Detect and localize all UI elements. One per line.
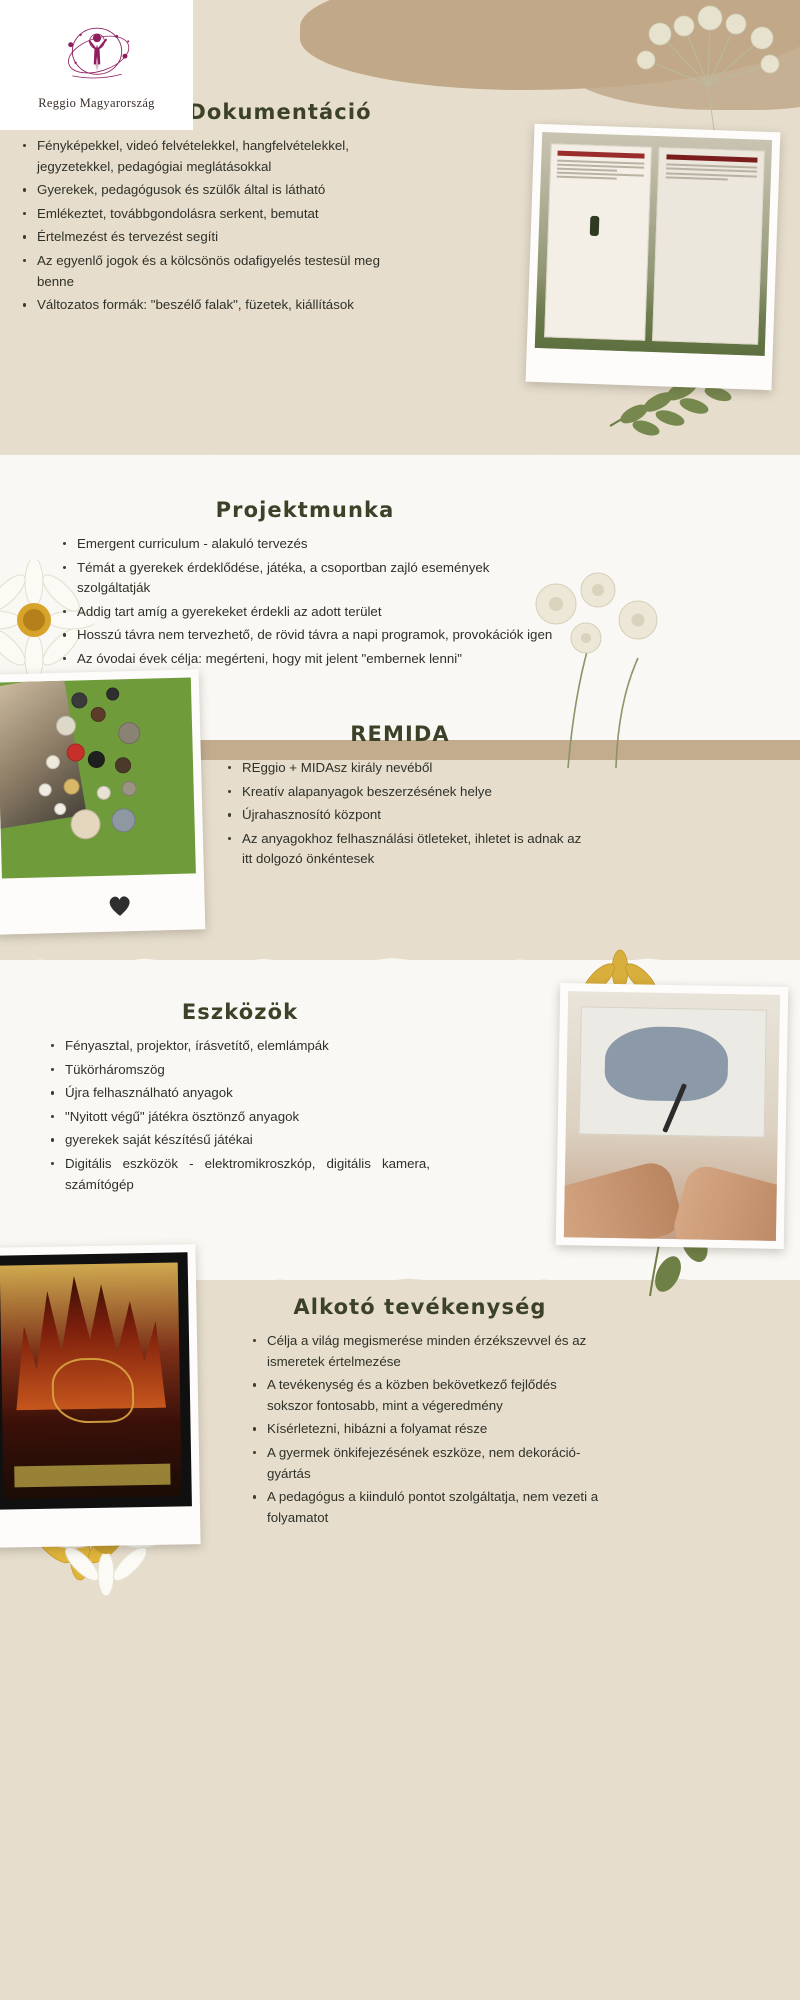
- list-item: "Nyitott végű" játékra ösztönző anyagok: [48, 1107, 430, 1128]
- list-item: Fényasztal, projektor, írásvetítő, eleml…: [48, 1036, 430, 1057]
- infographic-page: Reggio Magyarország Dokumentáció Fénykép…: [0, 0, 800, 2000]
- bullet-list-projektmunka: Emergent curriculum - alakuló tervezés T…: [40, 534, 560, 670]
- bullet-list-dokumentacio: Fényképekkel, videó felvételekkel, hangf…: [20, 136, 420, 316]
- list-item: Újra felhasználható anyagok: [48, 1083, 430, 1104]
- list-item: Fényképekkel, videó felvételekkel, hangf…: [20, 136, 420, 177]
- documentation-display-panels-photo: [535, 132, 772, 356]
- list-item: A tevékenység és a közben bekövetkező fe…: [250, 1375, 600, 1416]
- list-item: Emergent curriculum - alakuló tervezés: [60, 534, 560, 555]
- section-alkoto-tevekenyseg: Alkotó tevékenység Célja a világ megisme…: [240, 1295, 600, 1531]
- brand-logo-text: Reggio Magyarország: [38, 96, 154, 111]
- list-item: Az anyagokhoz felhasználási ötleteket, i…: [225, 829, 585, 870]
- list-item: REggio + MIDAsz király nevéből: [225, 758, 585, 779]
- section-eszkozok: Eszközök Fényasztal, projektor, írásvetí…: [30, 1000, 430, 1198]
- photo-alkoto: [0, 1244, 201, 1548]
- list-item: gyerekek saját készítésű játékai: [48, 1130, 430, 1151]
- section-title-remida: REMIDA: [215, 722, 585, 746]
- list-item: Az egyenlő jogok és a kölcsönös odafigye…: [20, 251, 420, 292]
- bullet-list-alkoto-tevekenyseg: Célja a világ megismerése minden érzéksz…: [240, 1331, 600, 1528]
- list-item: Hosszú távra nem tervezhető, de rövid tá…: [60, 625, 560, 646]
- photo-eszkozok: [556, 983, 789, 1249]
- list-item: Újrahasznosító központ: [225, 805, 585, 826]
- list-item: Célja a világ megismerése minden érzéksz…: [250, 1331, 600, 1372]
- list-item: Változatos formák: "beszélő falak", füze…: [20, 295, 420, 316]
- list-item: Kísérletezni, hibázni a folyamat része: [250, 1419, 600, 1440]
- list-item: Digitális eszközök - elektromikroszkóp, …: [48, 1154, 430, 1195]
- bullet-list-eszkozok: Fényasztal, projektor, írásvetítő, eleml…: [30, 1036, 430, 1195]
- list-item: Témát a gyerekek érdeklődése, játéka, a …: [60, 558, 560, 599]
- section-title-alkoto-tevekenyseg: Alkotó tevékenység: [240, 1295, 600, 1319]
- child-crayon-fire-drawing-photo: [0, 1252, 192, 1509]
- section-remida: REMIDA REggio + MIDAsz király nevéből Kr…: [215, 722, 585, 873]
- section-title-projektmunka: Projektmunka: [40, 498, 560, 522]
- photo-remida: [0, 669, 205, 934]
- list-item: A pedagógus a kiinduló pontot szolgáltat…: [250, 1487, 600, 1528]
- section-title-eszkozok: Eszközök: [30, 1000, 430, 1024]
- list-item: Az óvodai évek célja: megérteni, hogy mi…: [60, 649, 560, 670]
- brand-logo-card: Reggio Magyarország: [0, 0, 193, 130]
- list-item: Gyerekek, pedagógusok és szülők által is…: [20, 180, 420, 201]
- list-item: Értelmezést és tervezést segíti: [20, 227, 420, 248]
- list-item: Kreatív alapanyagok beszerzésének helye: [225, 782, 585, 803]
- heart-doodle-icon: [106, 893, 133, 918]
- child-reaching-stars-icon: [55, 20, 139, 94]
- child-drawing-on-light-board-photo: [564, 991, 780, 1241]
- photo-documentation: [526, 124, 781, 390]
- list-item: Tükörháromszög: [48, 1060, 430, 1081]
- section-projektmunka: Projektmunka Emergent curriculum - alaku…: [40, 498, 560, 673]
- list-item: Emlékeztet, továbbgondolásra serkent, be…: [20, 204, 420, 225]
- list-item: A gyermek önkifejezésének eszköze, nem d…: [250, 1443, 600, 1484]
- section-dokumentacio: Dokumentáció Fényképekkel, videó felvéte…: [20, 100, 420, 319]
- recycled-buttons-materials-photo: [0, 678, 196, 879]
- list-item: Addig tart amíg a gyerekeket érdekli az …: [60, 602, 560, 623]
- bullet-list-remida: REggio + MIDAsz király nevéből Kreatív a…: [215, 758, 585, 870]
